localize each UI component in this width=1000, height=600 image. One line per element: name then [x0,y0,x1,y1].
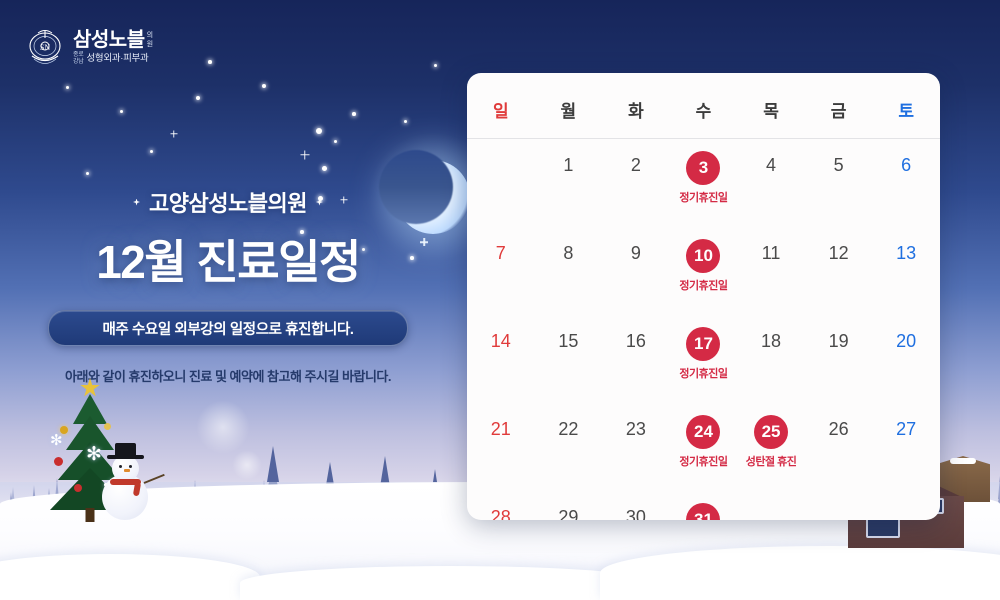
logo-suffix-line2: 원 [147,41,153,48]
star-icon [322,166,327,171]
sparkle-icon [300,150,309,159]
clinic-name-eyebrow: 고양삼성노블의원 [0,186,456,218]
closed-day-badge: 17 [686,327,720,361]
ornament-icon [114,464,122,472]
headline-block: 고양삼성노블의원 12월 진료일정 매주 수요일 외부강의 일정으로 휴진합니다… [0,186,456,385]
pine-tree-icon [424,468,446,530]
pine-tree-icon [75,489,89,530]
snowflake-icon: ✻ [50,433,63,448]
day-content: 30 [603,503,669,520]
ornament-icon [104,423,111,430]
day-content: 4 [738,151,804,179]
snow-drift [240,566,660,600]
pine-tree-icon [257,479,270,530]
calendar-day-cell-8[interactable]: 8 [535,227,603,315]
calendar-day-cell-3[interactable]: 3정기휴진일 [670,139,738,228]
day-content: 14 [468,327,534,355]
calendar-week-row: 78910정기휴진일111213 [467,227,940,315]
day-content: 10정기휴진일 [671,239,737,293]
pine-tree-icon [418,496,431,530]
pine-tree-icon [349,495,362,530]
calendar-day-cell-18[interactable]: 18 [737,315,805,403]
calendar-day-cell-29[interactable]: 29 [535,491,603,520]
day-content: 8 [536,239,602,267]
pine-tree-icon [211,493,224,530]
day-number: 15 [554,327,582,355]
closed-day-badge: 25 [754,415,788,449]
logo-department-label: 성형외과·피부과 [86,54,148,64]
pine-tree-icon [313,503,325,530]
day-content: 21 [468,415,534,443]
calendar-week-row: 14151617정기휴진일181920 [467,315,940,403]
calendar-week-row: 28293031정기휴진일 [467,491,940,520]
day-content: 26 [806,415,872,443]
snow-drift [600,546,1000,600]
day-content: 11 [738,239,804,267]
logo-suffix-line1: 의 [147,32,153,39]
day-content: 22 [536,415,602,443]
weekday-header-월: 월 [535,73,603,139]
snowman-icon [96,444,154,520]
pine-tree-icon [381,487,395,530]
day-content: 19 [806,327,872,355]
calendar-day-cell-12[interactable]: 12 [805,227,873,315]
christmas-tree-icon: ✻ ✻ ✻ [30,382,150,522]
calendar-day-cell-16[interactable]: 16 [602,315,670,403]
calendar-day-cell-28[interactable]: 28 [467,491,535,520]
calendar-day-cell-17[interactable]: 17정기휴진일 [670,315,738,403]
calendar-head: 일월화수목금토 [467,73,940,139]
calendar-day-cell-19[interactable]: 19 [805,315,873,403]
pine-tree-icon [165,485,178,530]
day-content: 3정기휴진일 [671,151,737,205]
eyebrow-label: 고양삼성노블의원 [149,186,307,218]
star-icon [120,110,123,113]
pine-tree-icon [993,503,1000,530]
pine-tree-icon [58,498,73,530]
calendar-day-cell-25[interactable]: 25성탄절 휴진 [737,403,805,491]
ornament-icon [54,457,63,466]
day-number: 23 [622,415,650,443]
calendar-empty-cell [805,491,873,520]
day-number: 16 [622,327,650,355]
calendar-empty-cell [872,491,940,520]
pine-tree-icon [143,493,159,530]
pine-tree-icon [330,494,341,530]
pine-tree-icon [50,476,63,530]
pine-tree-icon [942,490,953,530]
calendar-week-row: 123정기휴진일456 [467,139,940,228]
day-content: 2 [603,151,669,179]
weekday-header-수: 수 [670,73,738,139]
weekday-header-화: 화 [602,73,670,139]
day-number: 6 [892,151,920,179]
day-number: 18 [757,327,785,355]
calendar-day-cell-10[interactable]: 10정기휴진일 [670,227,738,315]
weekday-header-토: 토 [872,73,940,139]
logo-name: 삼성노블 [73,30,145,50]
calendar-table: 일월화수목금토 123정기휴진일45678910정기휴진일11121314151… [467,73,940,520]
pine-tree-icon [245,499,261,530]
calendar-card: 일월화수목금토 123정기휴진일45678910정기휴진일11121314151… [467,73,940,520]
day-number: 11 [757,239,785,267]
closed-day-badge: 10 [686,239,720,273]
day-content: 1 [536,151,602,179]
logo-suffix: 의 원 [147,30,153,50]
calendar-day-cell-2[interactable]: 2 [602,139,670,228]
pine-tree-icon [372,454,398,530]
sparkle-dot-left-icon [133,199,140,206]
calendar-day-cell-9[interactable]: 9 [602,227,670,315]
closed-day-badge: 24 [686,415,720,449]
ornament-icon [74,484,82,492]
day-content: 12 [806,239,872,267]
calendar-day-cell-23[interactable]: 23 [602,403,670,491]
star-icon [434,64,437,67]
calendar-day-cell-5[interactable]: 5 [805,139,873,228]
pine-tree-icon [188,478,201,530]
star-icon [334,140,337,143]
calendar-day-cell-1[interactable]: 1 [535,139,603,228]
closure-label: 정기휴진일 [679,277,727,293]
poster-canvas: SN 삼성노블 의 원 종로강남 성형외과·피부과 고양삼성노블의원 12월 진… [0,0,1000,600]
star-icon [262,84,266,88]
star-icon [316,128,322,134]
pine-tree-icon [415,489,427,530]
day-number: 19 [825,327,853,355]
pine-tree-icon [211,497,223,530]
day-content: 16 [603,327,669,355]
day-number: 12 [825,239,853,267]
calendar-day-cell-7[interactable]: 7 [467,227,535,315]
calendar-day-cell-30[interactable]: 30 [602,491,670,520]
pine-tree-icon [73,491,86,530]
day-number: 26 [825,415,853,443]
pine-tree-icon [177,495,191,530]
notice-subtext: 아래와 같이 휴진하오니 진료 및 예약에 참고해 주시길 바랍니다. [0,366,456,385]
pine-tree-icon [194,486,207,530]
day-number: 20 [892,327,920,355]
calendar-day-cell-4[interactable]: 4 [737,139,805,228]
pine-tree-icon [993,475,1000,530]
pine-tree-icon [303,487,316,530]
closure-label: 정기휴진일 [679,189,727,205]
page-title: 12월 진료일정 [0,226,456,292]
day-number: 4 [757,151,785,179]
sparkle-icon [170,130,177,137]
pine-tree-icon [262,490,277,530]
day-content: 31정기휴진일 [671,503,737,520]
ornament-icon [60,426,68,434]
snow-drift [0,554,260,600]
star-icon [352,112,356,116]
crest-emblem-icon: SN [26,26,64,70]
star-icon [208,60,212,64]
pine-tree-icon [96,484,109,530]
sparkle-dot-right-icon [316,199,323,206]
pine-tree-icon [41,487,57,530]
day-number: 22 [554,415,582,443]
day-content: 15 [536,327,602,355]
day-number: 21 [487,415,515,443]
pine-tree-icon [372,488,385,530]
closure-label: 정기휴진일 [679,453,727,469]
closure-label: 정기휴진일 [679,365,727,381]
pine-tree-icon [959,501,975,530]
calendar-day-cell-27[interactable]: 27 [872,403,940,491]
day-number: 28 [487,503,515,520]
pine-tree-icon [318,460,342,530]
closed-day-badge: 3 [686,151,720,185]
day-content: 27 [873,415,939,443]
pine-tree-icon [296,492,309,530]
day-content: 18 [738,327,804,355]
day-number: 1 [554,151,582,179]
pine-tree-icon [279,501,293,530]
calendar-day-cell-6[interactable]: 6 [872,139,940,228]
calendar-day-cell-31[interactable]: 31정기휴진일 [670,491,738,520]
notice-pill: 매주 수요일 외부강의 일정으로 휴진합니다. [48,310,408,346]
day-number: 5 [825,151,853,179]
day-content: 9 [603,239,669,267]
pine-tree-icon [441,489,454,530]
day-content: 13 [873,239,939,267]
weekday-header-금: 금 [805,73,873,139]
calendar-empty-cell [467,139,535,228]
pine-tree-icon [119,477,132,530]
closure-label: 성탄절 휴진 [746,453,797,469]
pine-tree-icon [398,498,411,530]
pine-tree-icon [228,488,239,530]
pine-tree-icon [4,490,17,530]
pine-tree-icon [364,496,379,530]
day-number: 2 [622,151,650,179]
day-content: 6 [873,151,939,179]
weekday-header-row: 일월화수목금토 [467,73,940,139]
day-content: 7 [468,239,534,267]
star-icon [66,86,69,89]
star-icon [86,172,89,175]
calendar-empty-cell [737,491,805,520]
logo-branch-mark: 종로강남 [73,52,83,66]
weekday-header-일: 일 [467,73,535,139]
pine-tree-icon [142,492,155,530]
day-number: 9 [622,239,650,267]
pine-tree-icon [160,504,175,530]
day-number: 29 [554,503,582,520]
day-number: 7 [487,239,515,267]
day-content: 28 [468,503,534,520]
calendar-day-cell-13[interactable]: 13 [872,227,940,315]
calendar-day-cell-26[interactable]: 26 [805,403,873,491]
pine-tree-icon [7,485,19,530]
calendar-day-cell-15[interactable]: 15 [535,315,603,403]
svg-text:SN: SN [40,43,50,52]
closed-day-badge: 31 [686,503,720,520]
day-number: 30 [622,503,650,520]
day-number: 14 [487,327,515,355]
pine-tree-icon [395,481,408,530]
day-content: 25성탄절 휴진 [738,415,804,469]
calendar-day-cell-20[interactable]: 20 [872,315,940,403]
day-content: 24정기휴진일 [671,415,737,469]
snowflake-icon: ✻ [102,478,122,502]
day-content: 29 [536,503,602,520]
pine-tree-icon [24,496,35,530]
pine-tree-icon [970,482,983,530]
calendar-day-cell-14[interactable]: 14 [467,315,535,403]
pine-tree-icon [326,480,339,530]
star-icon [404,120,407,123]
calendar-day-cell-21[interactable]: 21 [467,403,535,491]
day-number: 8 [554,239,582,267]
calendar-week-row: 21222324정기휴진일25성탄절 휴진2627 [467,403,940,491]
star-icon [196,96,200,100]
logo-department: 종로강남 성형외과·피부과 [73,52,153,66]
day-number: 13 [892,239,920,267]
day-content: 17정기휴진일 [671,327,737,381]
calendar-day-cell-24[interactable]: 24정기휴진일 [670,403,738,491]
day-number: 27 [892,415,920,443]
weekday-header-목: 목 [737,73,805,139]
pine-tree-icon [280,494,293,530]
pine-tree-icon [234,486,247,530]
star-icon [150,150,153,153]
day-content: 5 [806,151,872,179]
pine-tree-icon [27,483,40,530]
calendar-body: 123정기휴진일45678910정기휴진일11121314151617정기휴진일… [467,139,940,521]
pine-tree-icon [976,492,991,530]
pine-tree-icon [92,500,105,530]
pine-tree-icon [947,489,960,530]
calendar-day-cell-11[interactable]: 11 [737,227,805,315]
day-content: 20 [873,327,939,355]
pine-tree-icon [126,502,137,530]
pine-tree-icon [347,485,363,530]
calendar-day-cell-22[interactable]: 22 [535,403,603,491]
pine-tree-icon [258,444,288,530]
pine-tree-icon [109,491,121,530]
pine-tree-icon [449,491,465,530]
snowflake-icon: ✻ [86,445,102,464]
day-content: 23 [603,415,669,443]
clinic-logo: SN 삼성노블 의 원 종로강남 성형외과·피부과 [26,26,153,70]
pine-tree-icon [432,500,443,530]
